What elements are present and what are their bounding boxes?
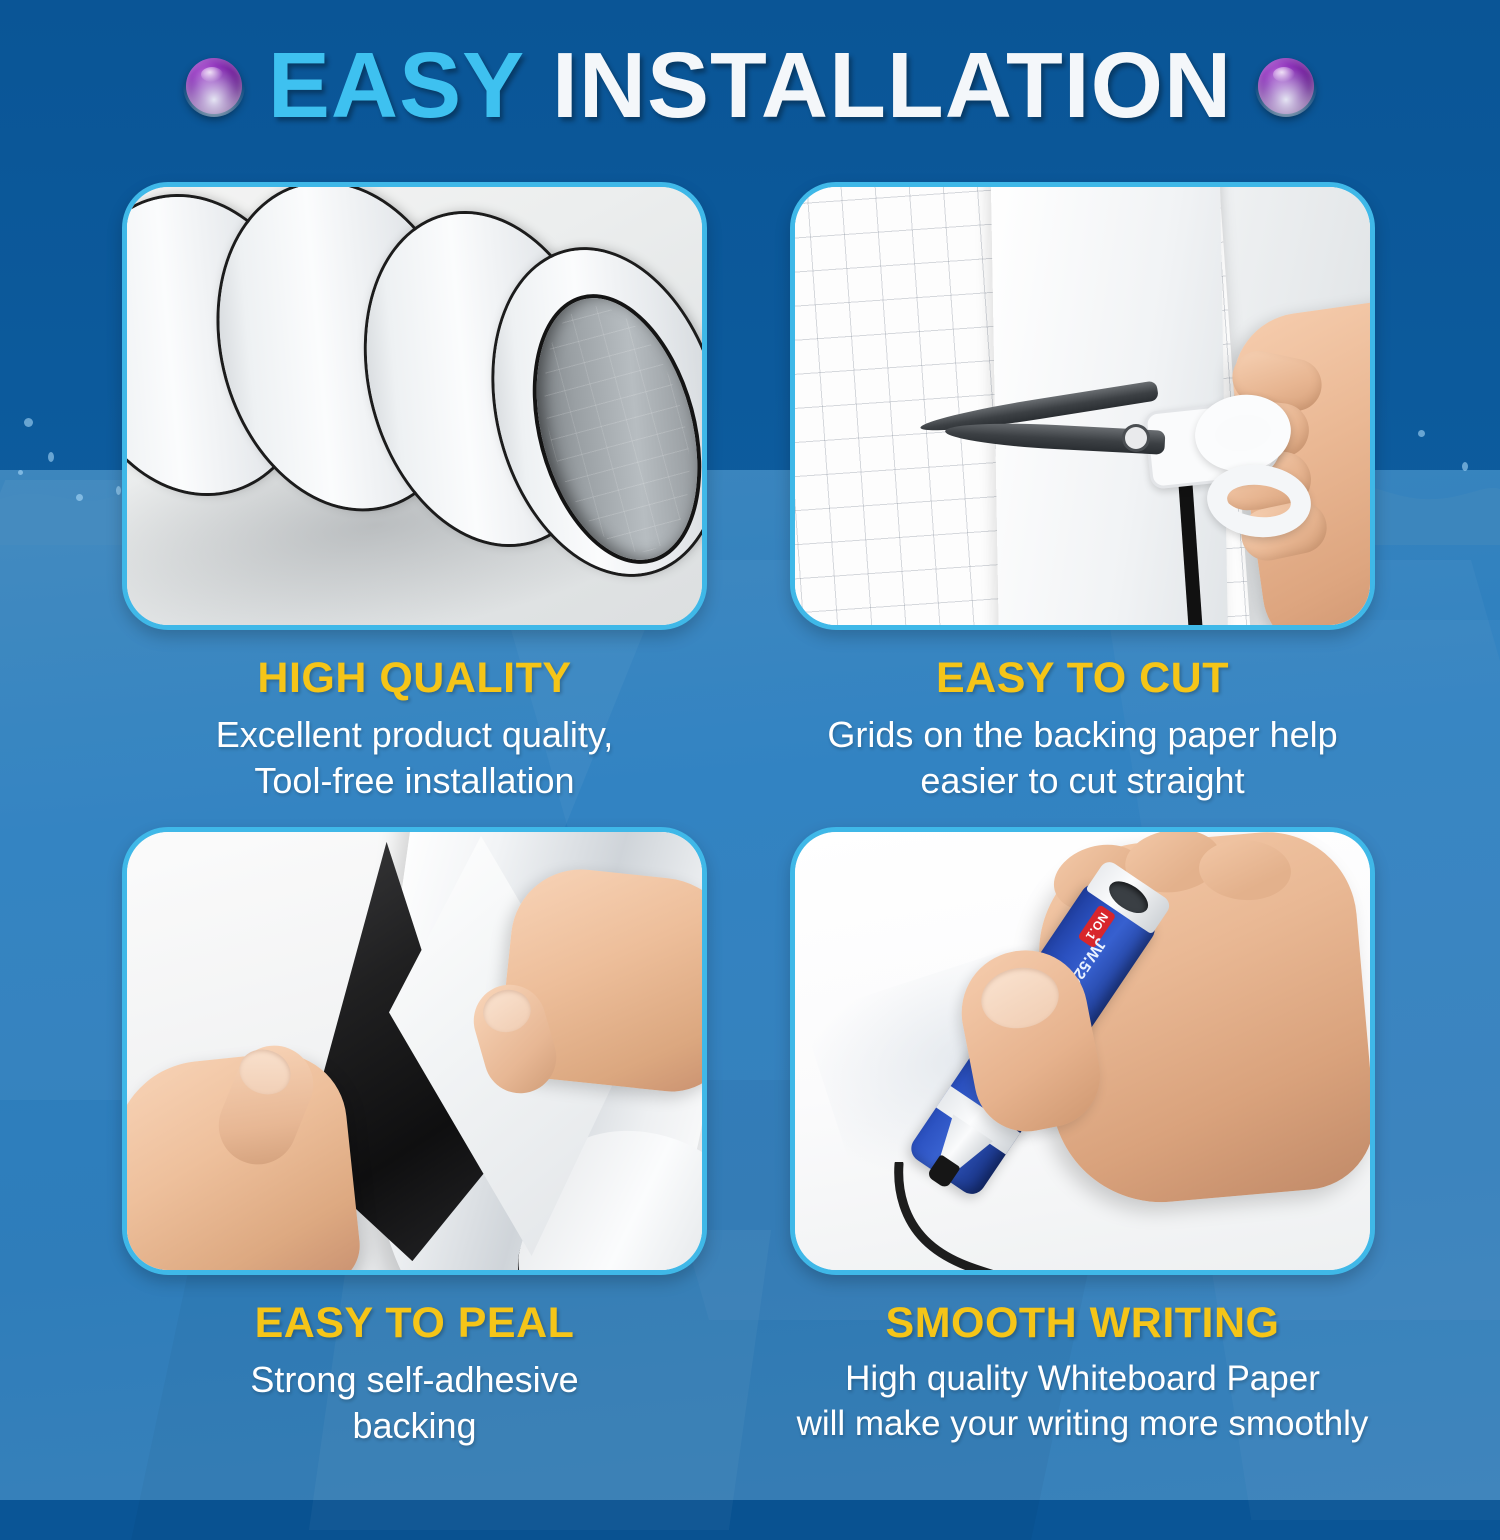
feature-panel-high-quality: HIGH QUALITY Excellent product quality, … <box>122 182 707 804</box>
panel-caption-title: EASY TO PEAL <box>132 1301 697 1346</box>
caption-line-1: High quality Whiteboard Paper <box>845 1359 1320 1398</box>
panel-caption-body: High quality Whiteboard Paper will make … <box>780 1357 1385 1447</box>
page-title-main: INSTALLATION <box>552 33 1232 137</box>
caption-line-1: Grids on the backing paper help <box>827 714 1337 755</box>
panel-caption-title: EASY TO CUT <box>800 656 1365 701</box>
caption-line-2: easier to cut straight <box>920 760 1244 801</box>
panel-caption-body: Strong self-adhesive backing <box>132 1357 697 1449</box>
magnet-pin-icon <box>1258 58 1314 114</box>
caption-line-2: will make your writing more smoothly <box>797 1404 1369 1443</box>
scissors-pivot-screw <box>1125 427 1147 449</box>
caption-line-1: Excellent product quality, <box>216 714 614 755</box>
magnet-pin-icon <box>186 58 242 114</box>
panel-caption-body: Grids on the backing paper help easier t… <box>800 712 1365 804</box>
ink-stroke <box>891 1162 1101 1270</box>
caption-line-2: Tool-free installation <box>254 760 574 801</box>
feature-panel-easy-to-cut: EASY TO CUT Grids on the backing paper h… <box>790 182 1375 804</box>
scissors-cutting-grid-paper-photo <box>790 182 1375 630</box>
page-title-accent: EASY <box>268 33 525 137</box>
rolled-whiteboard-sheet-photo <box>122 182 707 630</box>
feature-panel-easy-to-peal: EASY TO PEAL Strong self-adhesive backin… <box>122 827 707 1449</box>
panel-caption-title: HIGH QUALITY <box>132 656 697 701</box>
panel-caption: EASY TO PEAL Strong self-adhesive backin… <box>122 1301 707 1449</box>
caption-line-2: backing <box>352 1405 476 1446</box>
feature-panel-smooth-writing: NO.1 JW.526 09 JIAWEI SMOOTH WRITING Hig… <box>770 827 1395 1446</box>
peeling-adhesive-backing-photo <box>122 827 707 1275</box>
panel-caption: SMOOTH WRITING High quality Whiteboard P… <box>770 1301 1395 1446</box>
panel-caption-body: Excellent product quality, Tool-free ins… <box>132 712 697 804</box>
panel-caption-title: SMOOTH WRITING <box>780 1301 1385 1346</box>
panel-caption: HIGH QUALITY Excellent product quality, … <box>122 656 707 804</box>
caption-line-1: Strong self-adhesive <box>250 1359 578 1400</box>
panel-caption: EASY TO CUT Grids on the backing paper h… <box>790 656 1375 804</box>
feature-panel-grid: HIGH QUALITY Excellent product quality, … <box>0 0 1500 1500</box>
marker-writing-on-board-photo: NO.1 JW.526 09 JIAWEI <box>790 827 1375 1275</box>
page-title: EASY INSTALLATION <box>268 39 1232 132</box>
